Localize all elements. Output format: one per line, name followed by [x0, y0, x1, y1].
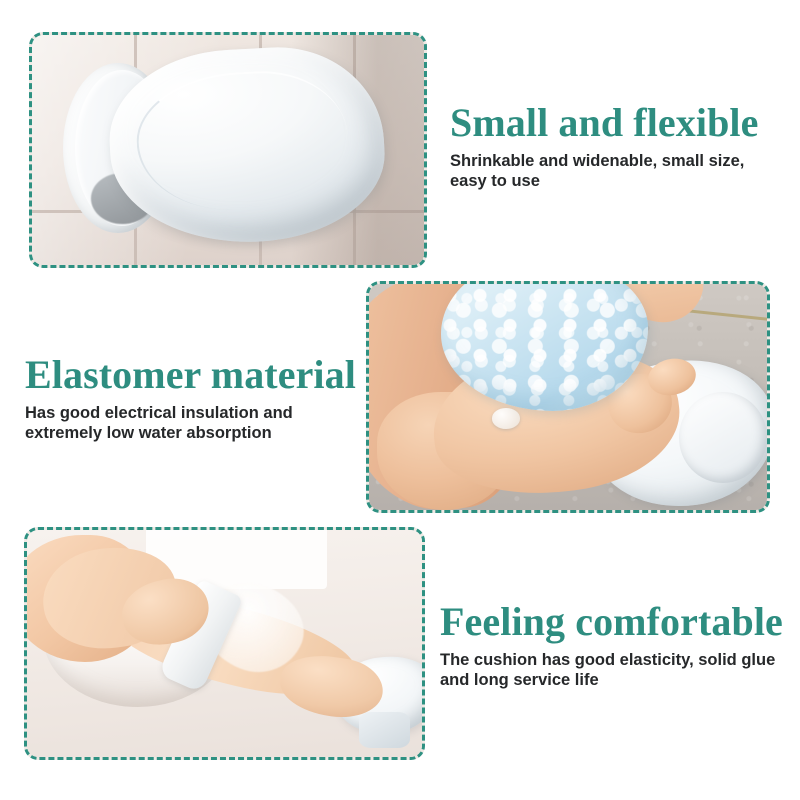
feature-text-elastomer-material: Elastomer material Has good electrical i… [25, 354, 356, 444]
feature-description: Shrinkable and widenable, small size, ea… [450, 151, 759, 193]
water-droplet [492, 408, 520, 428]
feature-text-small-and-flexible: Small and flexible Shrinkable and widena… [450, 102, 759, 192]
feature-title: Elastomer material [25, 354, 356, 396]
suction-cup-base [359, 712, 410, 748]
photo-scene-foot-washing [369, 284, 767, 510]
feature-text-feeling-comfortable: Feeling comfortable The cushion has good… [440, 601, 783, 691]
feature-photo-elastomer-material [366, 281, 770, 513]
suction-cup-base [679, 392, 767, 482]
photo-scene-wall-mounted-rest [32, 35, 424, 265]
feature-title: Feeling comfortable [440, 601, 783, 643]
feature-description: Has good electrical insulation and extre… [25, 403, 356, 445]
feature-description: The cushion has good elasticity, solid g… [440, 650, 783, 692]
foot-rest-groove [134, 67, 351, 215]
feature-photo-feeling-comfortable [24, 527, 425, 760]
feature-title: Small and flexible [450, 102, 759, 144]
feature-photo-small-and-flexible [29, 32, 427, 268]
photo-scene-leg-shaving [27, 530, 422, 757]
